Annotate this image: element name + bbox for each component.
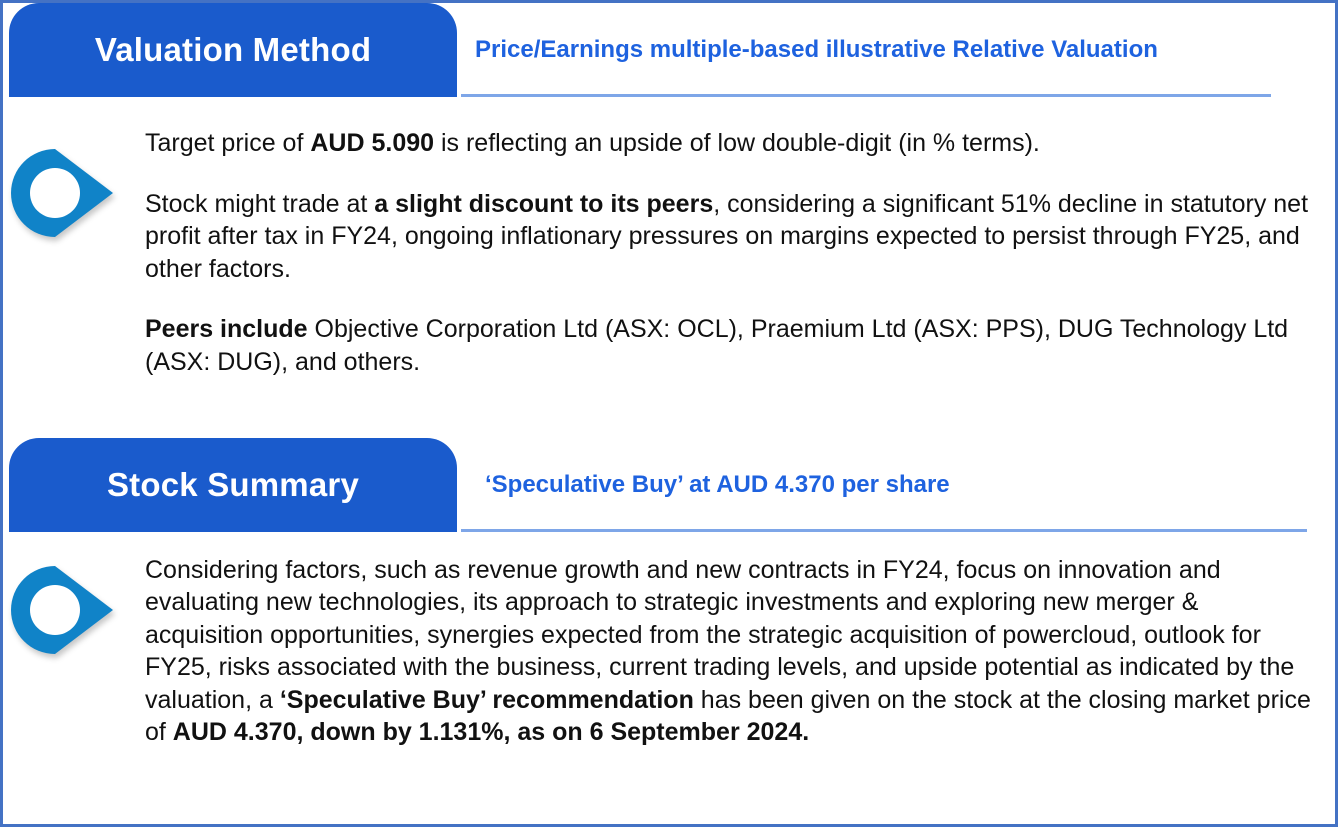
section-tab-label: Valuation Method (95, 31, 371, 69)
paragraph-peer-discount: Stock might trade at a slight discount t… (145, 188, 1317, 286)
section-tab-valuation-method: Valuation Method (9, 3, 457, 97)
bullet-marker-container (3, 554, 145, 656)
section-tab-stock-summary: Stock Summary (9, 438, 457, 532)
stock-summary-paragraph-list: Considering factors, such as revenue gro… (145, 554, 1335, 748)
section-header-valuation: Valuation Method Price/Earnings multiple… (3, 3, 1335, 97)
bullet-marker-container (3, 127, 145, 239)
section-spacer (3, 378, 1335, 438)
circle-pointer-icon (9, 564, 115, 656)
valuation-method-body: Target price of AUD 5.090 is reflecting … (3, 97, 1335, 378)
section-subtitle-stock-summary: ‘Speculative Buy’ at AUD 4.370 per share (485, 438, 950, 532)
circle-pointer-icon (9, 147, 115, 239)
section-tab-label: Stock Summary (107, 466, 359, 504)
paragraph-recommendation: Considering factors, such as revenue gro… (145, 554, 1317, 748)
valuation-paragraph-list: Target price of AUD 5.090 is reflecting … (145, 127, 1335, 378)
stock-summary-body: Considering factors, such as revenue gro… (3, 532, 1335, 748)
section-header-stock-summary: Stock Summary ‘Speculative Buy’ at AUD 4… (3, 438, 1335, 532)
section-subtitle-valuation-method: Price/Earnings multiple-based illustrati… (475, 3, 1158, 97)
paragraph-target-price: Target price of AUD 5.090 is reflecting … (145, 127, 1317, 160)
valuation-summary-page: Valuation Method Price/Earnings multiple… (0, 0, 1338, 827)
paragraph-peers-include: Peers include Objective Corporation Ltd … (145, 313, 1317, 378)
